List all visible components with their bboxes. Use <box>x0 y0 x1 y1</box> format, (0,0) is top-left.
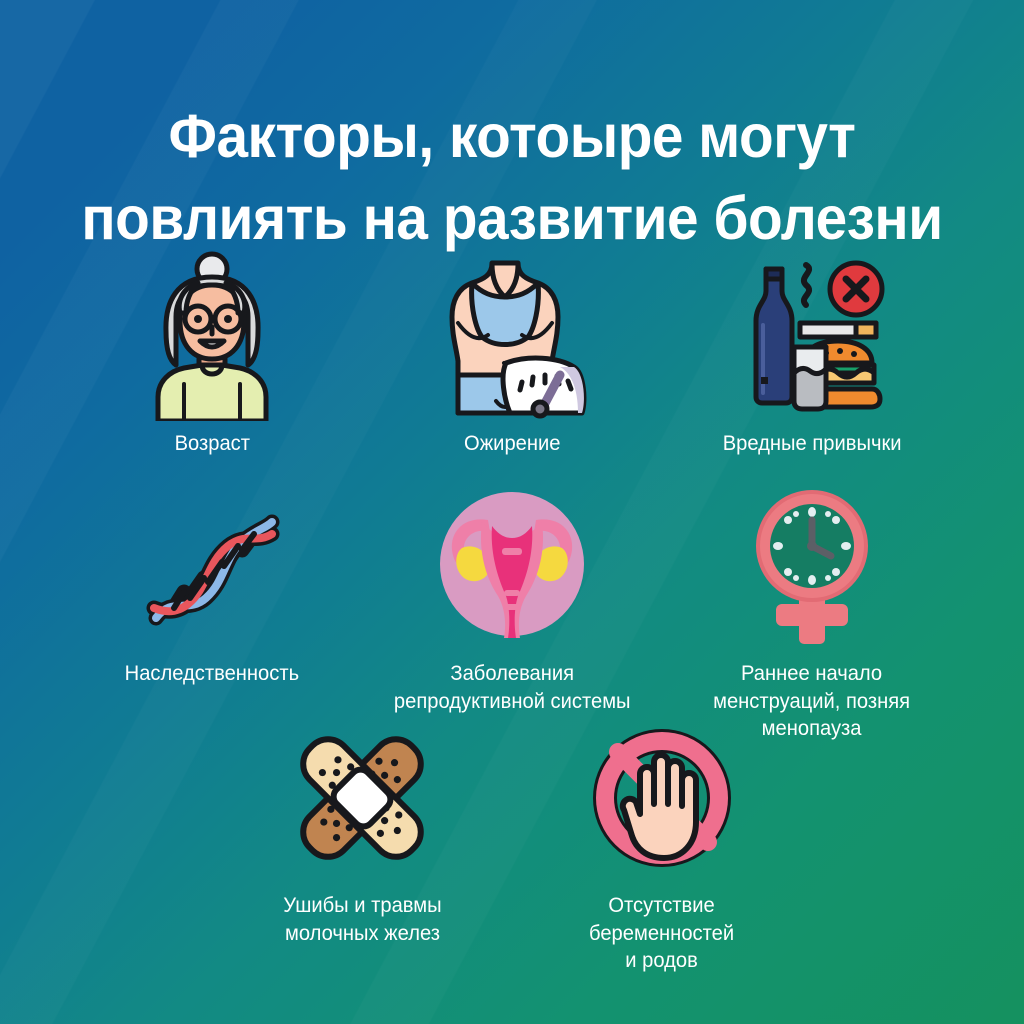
factors-row-3: Ушибы и травмы молочных желез Отсутств <box>0 718 1024 975</box>
factor-item-breast-trauma[interactable]: Ушибы и травмы молочных желез <box>212 718 512 975</box>
factor-item-reproductive-disease[interactable]: Заболевания репродуктивной системы <box>362 486 662 743</box>
obesity-body-scale-icon <box>427 252 597 420</box>
no-pregnancy-stop-hand-icon <box>577 718 747 878</box>
factor-label: Возраст <box>174 430 249 458</box>
crossed-bandages-icon <box>277 718 447 878</box>
factor-label: Наследственность <box>125 660 299 688</box>
factor-item-obesity[interactable]: Ожирение <box>362 252 662 458</box>
factor-label: Вредные привычки <box>723 430 902 458</box>
factor-label: Ожирение <box>464 430 560 458</box>
elderly-woman-icon <box>127 252 297 420</box>
bad-habits-icon <box>727 252 897 420</box>
factor-item-age[interactable]: Возраст <box>62 252 362 458</box>
factor-item-menstruation-timing[interactable]: Раннее начало менструаций, позняя менопа… <box>662 486 962 743</box>
uterus-icon <box>427 486 597 646</box>
title-line-2: повлиять на развитие болезни <box>36 178 988 260</box>
factor-item-heredity[interactable]: Наследственность <box>62 486 362 743</box>
title-line-1: Факторы, котоыре могут <box>36 96 988 178</box>
factors-row-2: Наследственность <box>0 486 1024 743</box>
factor-item-no-pregnancy[interactable]: Отсутствие беременностей и родов <box>512 718 812 975</box>
factor-label: Отсутствие беременностей и родов <box>589 892 734 975</box>
page-title: Факторы, котоыре могут повлиять на разви… <box>36 96 988 259</box>
dna-helix-icon <box>127 486 297 646</box>
infographic-poster: Факторы, котоыре могут повлиять на разви… <box>0 0 1024 1024</box>
factor-label: Заболевания репродуктивной системы <box>394 660 631 715</box>
factors-row-1: Возраст <box>0 252 1024 458</box>
factor-label: Ушибы и травмы молочных желез <box>283 892 441 947</box>
factor-item-bad-habits[interactable]: Вредные привычки <box>662 252 962 458</box>
venus-clock-icon <box>727 486 897 646</box>
